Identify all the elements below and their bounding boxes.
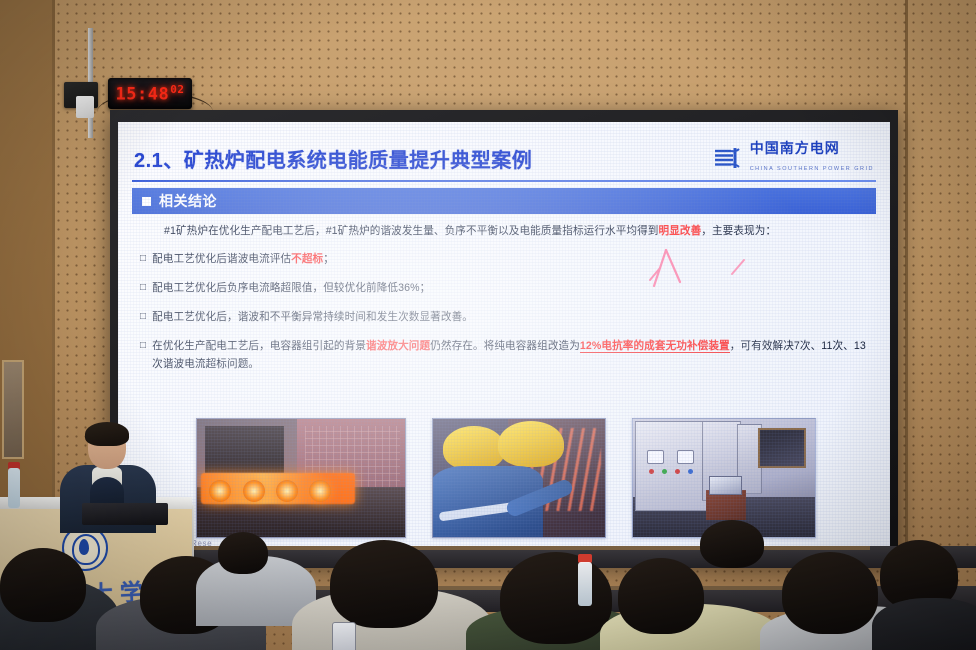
slide-header: 2.1、矿热炉配电系统电能质量提升典型案例 <box>118 136 890 180</box>
logo-text: 中国南方电网 CHINA SOUTHERN POWER GRID <box>750 141 874 175</box>
water-bottle <box>8 468 20 508</box>
slide: 2.1、矿热炉配电系统电能质量提升典型案例 <box>118 122 890 554</box>
wall-mounted-device-body <box>76 96 94 118</box>
bullet-item: □ 配电工艺优化后，谐波和不平衡异常持续时间和发生次数显著改善。 <box>140 308 870 326</box>
bullet-item: □ 配电工艺优化后负序电流略超限值，但较优化前降低36%； <box>140 279 870 297</box>
slide-title: 2.1、矿热炉配电系统电能质量提升典型案例 <box>134 144 532 173</box>
clock-seconds: 02 <box>170 83 184 96</box>
power-grid-icon <box>713 146 743 170</box>
logo-cn: 中国南方电网 <box>750 140 840 156</box>
presenter <box>58 425 158 530</box>
square-bullet-icon: □ <box>140 250 146 268</box>
highlight-text: 明显改善 <box>659 225 702 237</box>
square-bullet-icon: □ <box>140 337 146 373</box>
section-label: 相关结论 <box>159 191 217 211</box>
square-bullet-icon <box>142 197 151 206</box>
square-bullet-icon: □ <box>140 279 146 297</box>
presentation-screen: 2.1、矿热炉配电系统电能质量提升典型案例 <box>118 122 890 554</box>
highlight-text: 谐波放大问题 <box>366 340 430 352</box>
presenter-laptop <box>82 503 168 525</box>
bullet-text: 在优化生产配电工艺后，电容器组引起的背景谐波放大问题仍然存在。将纯电容器组改造为… <box>152 337 870 373</box>
highlight-underlined-text: 12%电抗率的成套无功补偿装置 <box>580 340 730 353</box>
title-divider <box>132 180 876 182</box>
square-bullet-icon: □ <box>140 308 146 326</box>
section-band: 相关结论 <box>132 188 876 214</box>
bullet-text: 配电工艺优化后负序电流略超限值，但较优化前降低36%； <box>152 279 870 297</box>
slide-body: #1矿热炉在优化生产配电工艺后，#1矿热炉的谐波发生量、负序不平衡以及电能质量指… <box>140 222 870 384</box>
projection-screen-bezel: 2.1、矿热炉配电系统电能质量提升典型案例 <box>110 110 898 562</box>
framed-picture <box>2 360 24 459</box>
led-clock: 15:4802 <box>108 78 192 109</box>
clock-time: 15:4802 <box>116 83 185 105</box>
intro-paragraph: #1矿热炉在优化生产配电工艺后，#1矿热炉的谐波发生量、负序不平衡以及电能质量指… <box>140 222 870 241</box>
lecture-hall-photo: 15:4802 2.1、矿热炉配电系统电能质量提升典型案例 <box>0 0 976 650</box>
bullet-text: 配电工艺优化后，谐波和不平衡异常持续时间和发生次数显著改善。 <box>152 308 870 326</box>
bullet-item: □ 在优化生产配电工艺后，电容器组引起的背景谐波放大问题仍然存在。将纯电容器组改… <box>140 337 870 373</box>
company-logo: 中国南方电网 CHINA SOUTHERN POWER GRID <box>713 141 874 175</box>
bullet-text: 配电工艺优化后谐波电流评估不超标； <box>152 250 870 268</box>
bullet-item: □ 配电工艺优化后谐波电流评估不超标； <box>140 250 870 268</box>
highlight-text: 不超标 <box>291 253 323 265</box>
logo-en: CHINA SOUTHERN POWER GRID <box>750 166 874 172</box>
